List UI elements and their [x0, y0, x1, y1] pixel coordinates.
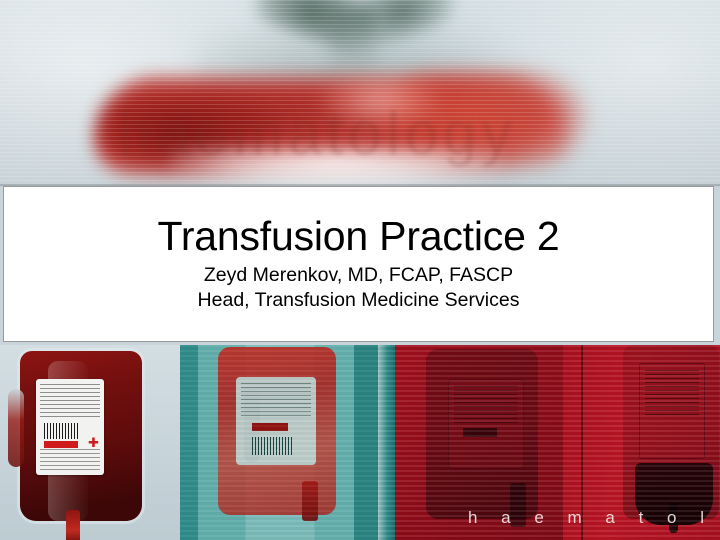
panel1-label-red-bar [44, 441, 78, 448]
panel2-bag-outlet-port [302, 481, 318, 521]
panel3-label-text-lines [454, 386, 518, 426]
panel2-label-red-bar [252, 423, 288, 431]
panel4-left-edge-line [581, 345, 583, 540]
panel2-label-barcode [252, 437, 292, 455]
panel1-label-text-lines-lower [40, 449, 100, 471]
panel3-blood-bag [426, 349, 538, 519]
hero-watermark-text: haematology [118, 99, 720, 168]
panel1-bag-tubing [8, 389, 24, 467]
panel2-bag-label [236, 377, 316, 465]
panel3-teal-edge-strip [378, 345, 395, 540]
presenter-role-department: Head, Transfusion Medicine Services [198, 288, 520, 313]
panel1-bag-outlet-port [66, 510, 80, 540]
panel3-bag-outlet-port [510, 483, 526, 527]
panel4-label-text-lines [645, 370, 699, 416]
strip-panel-blood-bag-natural: ✚ [0, 345, 180, 540]
panel3-label-dark-bar [463, 428, 497, 437]
panel3-bag-label [448, 379, 524, 469]
presenter-name-credentials: Zeyd Merenkov, MD, FCAP, FASCP [204, 263, 513, 288]
panel2-label-text-lines [241, 383, 311, 419]
red-cross-icon: ✚ [88, 437, 99, 448]
strip-panel-blood-bag-crimson [378, 345, 563, 540]
presentation-slide: haematology Transfusion Practice 2 Zeyd … [0, 0, 720, 540]
bottom-image-strip: ✚ [0, 345, 720, 540]
panel1-label-barcode [44, 423, 78, 439]
panel4-blood-drip [669, 503, 678, 533]
page-title: Transfusion Practice 2 [158, 215, 560, 258]
title-card: Transfusion Practice 2 Zeyd Merenkov, MD… [3, 186, 714, 342]
panel4-blood-bag [623, 345, 719, 519]
panel2-blood-bag [218, 347, 336, 515]
panel4-bag-label [639, 363, 705, 459]
strip-panel-blood-bag-teal [180, 345, 378, 540]
panel1-label-text-lines [40, 384, 100, 418]
hero-image-blurred-blood-bag: haematology [0, 0, 720, 190]
strip-panel-blood-bag-red [563, 345, 720, 540]
panel1-bag-label: ✚ [36, 379, 104, 475]
